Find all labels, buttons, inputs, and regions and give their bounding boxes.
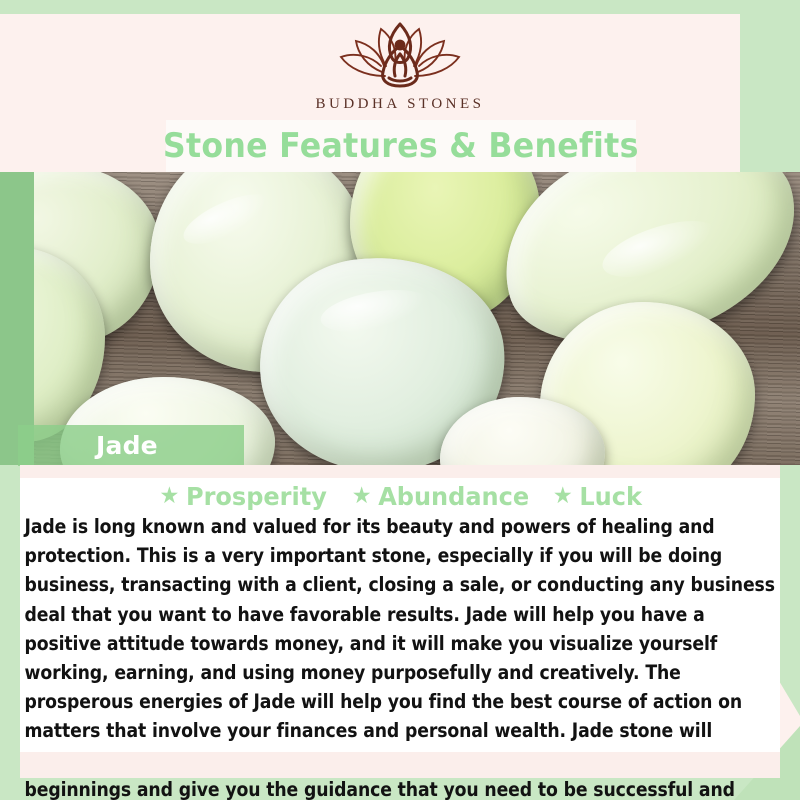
benefit-item-abundance: ★ Abundance	[343, 482, 538, 511]
infographic-card: BUDDHA STONES Stone Features & Benefits …	[0, 0, 800, 800]
stone-name: Jade	[96, 431, 158, 460]
decor-top-strip	[0, 0, 800, 14]
benefit-label: Prosperity	[186, 482, 327, 511]
title-banner: Stone Features & Benefits	[166, 120, 636, 172]
benefit-item-prosperity: ★ Prosperity	[151, 482, 336, 511]
brand-name: BUDDHA STONES	[0, 96, 800, 113]
star-icon: ★	[352, 485, 372, 508]
content-panel: ★ Prosperity ★ Abundance ★ Luck Jade is …	[20, 465, 780, 778]
star-icon: ★	[160, 485, 180, 508]
stone-name-band: Jade	[18, 425, 244, 466]
stone-photo	[0, 172, 800, 465]
benefits-row: ★ Prosperity ★ Abundance ★ Luck	[20, 478, 780, 514]
panel-top-strip	[20, 465, 780, 478]
star-icon: ★	[553, 485, 573, 508]
panel-bottom-strip	[20, 752, 780, 778]
page-title: Stone Features & Benefits	[163, 126, 639, 166]
brand-logo: BUDDHA STONES	[0, 16, 800, 113]
benefit-label: Luck	[580, 482, 643, 511]
figure-head-icon	[395, 40, 406, 51]
lotus-meditating-figure-icon	[325, 16, 475, 92]
benefit-item-luck: ★ Luck	[544, 482, 650, 511]
benefit-label: Abundance	[379, 482, 530, 511]
